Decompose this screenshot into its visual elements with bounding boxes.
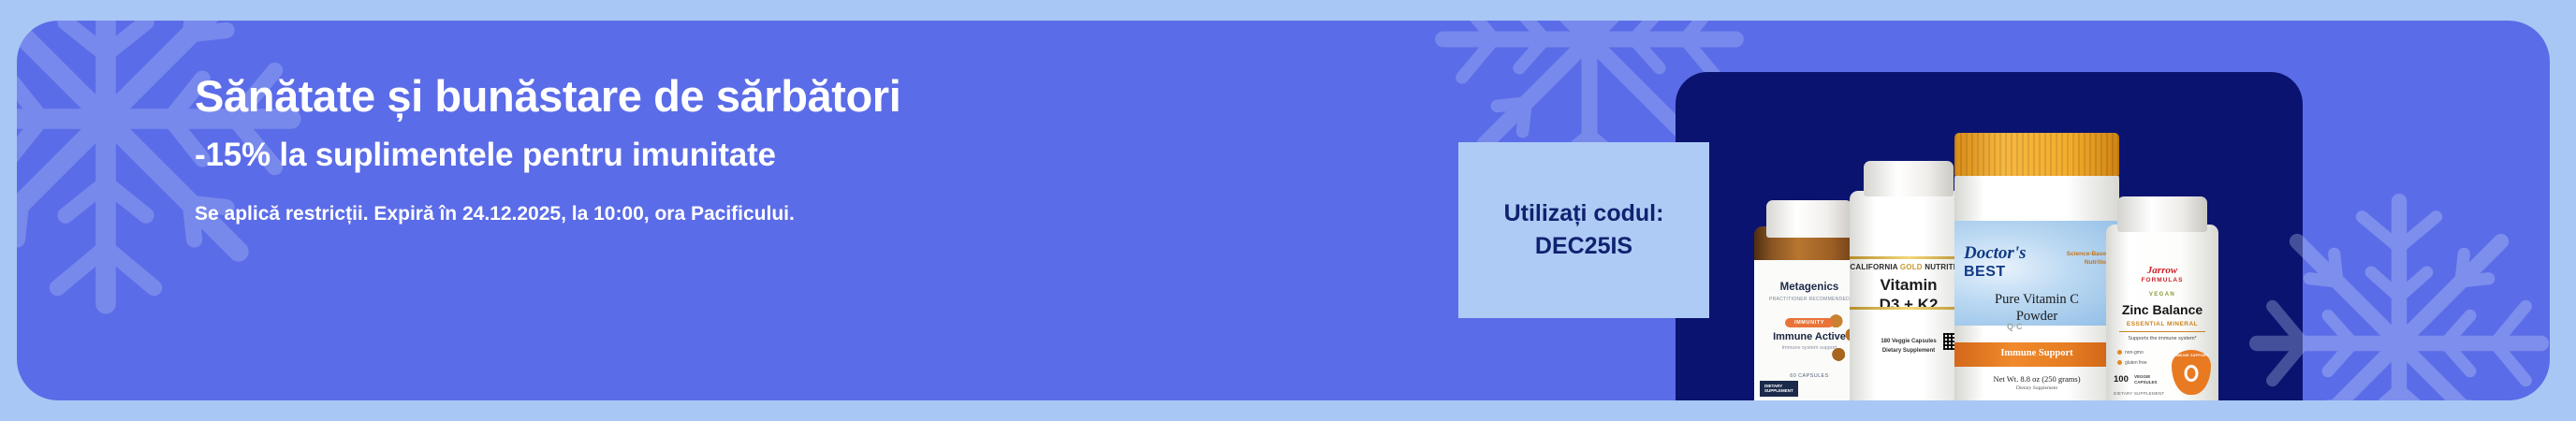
product-label: Jarrow FORMULAS VEGAN Zinc Balance ESSEN… [2106, 238, 2218, 400]
product-count: 100 [2114, 374, 2129, 385]
product-tagline: PRACTITIONER RECOMMENDED [1754, 298, 1865, 302]
coupon-code[interactable]: DEC25IS [1535, 233, 1632, 260]
promo-banner[interactable]: Sănătate și bunăstare de sărbători -15% … [17, 21, 2550, 400]
bottle-cap [2117, 196, 2207, 232]
product-label: CALIFORNIA GOLD NUTRITION Vitamin D3 + K… [1850, 202, 1968, 400]
product-subtitle: DIETARY SUPPLEMENT [2114, 391, 2164, 396]
product-metagenics-immune-active[interactable]: Metagenics PRACTITIONER RECOMMENDED IMMU… [1754, 200, 1865, 400]
product-claim: Supports the immune system* [2106, 337, 2218, 342]
tub-lid [1954, 133, 2119, 176]
banner-copy: Sănătate și bunăstare de sărbători -15% … [195, 69, 1037, 225]
coupon-prompt: Utilizați codul: [1504, 200, 1664, 227]
bottle-cap [1864, 161, 1954, 196]
product-net-weight: Net Wt. 8.8 oz (250 grams) [1954, 374, 2119, 384]
label-rule [2119, 331, 2205, 332]
coupon-code-box[interactable]: Utilizați codul: DEC25IS [1458, 142, 1709, 318]
product-brand: Metagenics [1754, 283, 1865, 294]
immune-support-shield-icon: IMMUNE SUPPORT [2172, 350, 2211, 395]
product-name: Pure Vitamin C Powder [1954, 292, 2119, 325]
tub-body: Doctor's BEST Science-Based Nutrition Q·… [1954, 172, 2119, 400]
product-brand-line2: BEST [1964, 264, 2006, 281]
vegan-tag: VEGAN [2106, 292, 2218, 298]
banner-subheadline: -15% la suplimentele pentru imunitate [195, 136, 1037, 175]
science-based-nutrition-tag: Science-Based Nutrition [2067, 251, 2110, 268]
product-count-unit: VEGGIE CAPSULES [2134, 374, 2158, 385]
product-group: Metagenics PRACTITIONER RECOMMENDED IMMU… [1702, 21, 2357, 400]
product-name-line2: D3 + K2 [1850, 296, 1968, 314]
bottle-cap [1766, 200, 1852, 238]
bullet-gluten-free: gluten free [2117, 360, 2147, 366]
bullet-non-gmo: non-gmo [2117, 350, 2144, 356]
page-title: Sănătate și bunăstare de sărbători [195, 69, 1037, 123]
immunity-badge: IMMUNITY [1785, 318, 1834, 327]
label-rule-top [1850, 256, 1968, 259]
product-subtitle: Dietary Supplement [1954, 385, 2119, 391]
dietary-supplement-flag: DIETARY SUPPLEMENT [1760, 381, 1798, 397]
product-label: Metagenics PRACTITIONER RECOMMENDED IMMU… [1754, 260, 1865, 400]
shield-label: IMMUNE SUPPORT [2172, 354, 2211, 357]
product-jarrow-formulas-zinc-balance[interactable]: Jarrow FORMULAS VEGAN Zinc Balance ESSEN… [2106, 196, 2218, 400]
product-subtitle: Immune system support [1754, 346, 1865, 352]
product-name: Immune Active [1754, 332, 1865, 342]
product-name: Zinc Balance [2106, 303, 2218, 316]
product-count: 60 CAPSULES [1754, 374, 1865, 380]
label-rule-bottom [1850, 307, 1968, 310]
product-brand: CALIFORNIA GOLD NUTRITION [1850, 264, 1968, 271]
product-doctors-best-pure-vitamin-c-powder[interactable]: Doctor's BEST Science-Based Nutrition Q·… [1954, 133, 2119, 400]
product-california-gold-nutrition-d3-k2[interactable]: CALIFORNIA GOLD NUTRITION Vitamin D3 + K… [1850, 161, 1968, 400]
banner-disclaimer: Se aplică restricții. Expiră în 24.12.20… [195, 203, 1037, 225]
product-brand-line1: Jarrow [2106, 266, 2218, 276]
product-name-line1: Vitamin [1850, 277, 1968, 293]
essential-mineral-tag: ESSENTIAL MINERAL [2106, 322, 2218, 328]
product-brand-line2: FORMULAS [2106, 278, 2218, 284]
immune-support-label: Immune Support [1954, 348, 2119, 358]
product-brand-line1: Doctor's [1964, 245, 2027, 262]
